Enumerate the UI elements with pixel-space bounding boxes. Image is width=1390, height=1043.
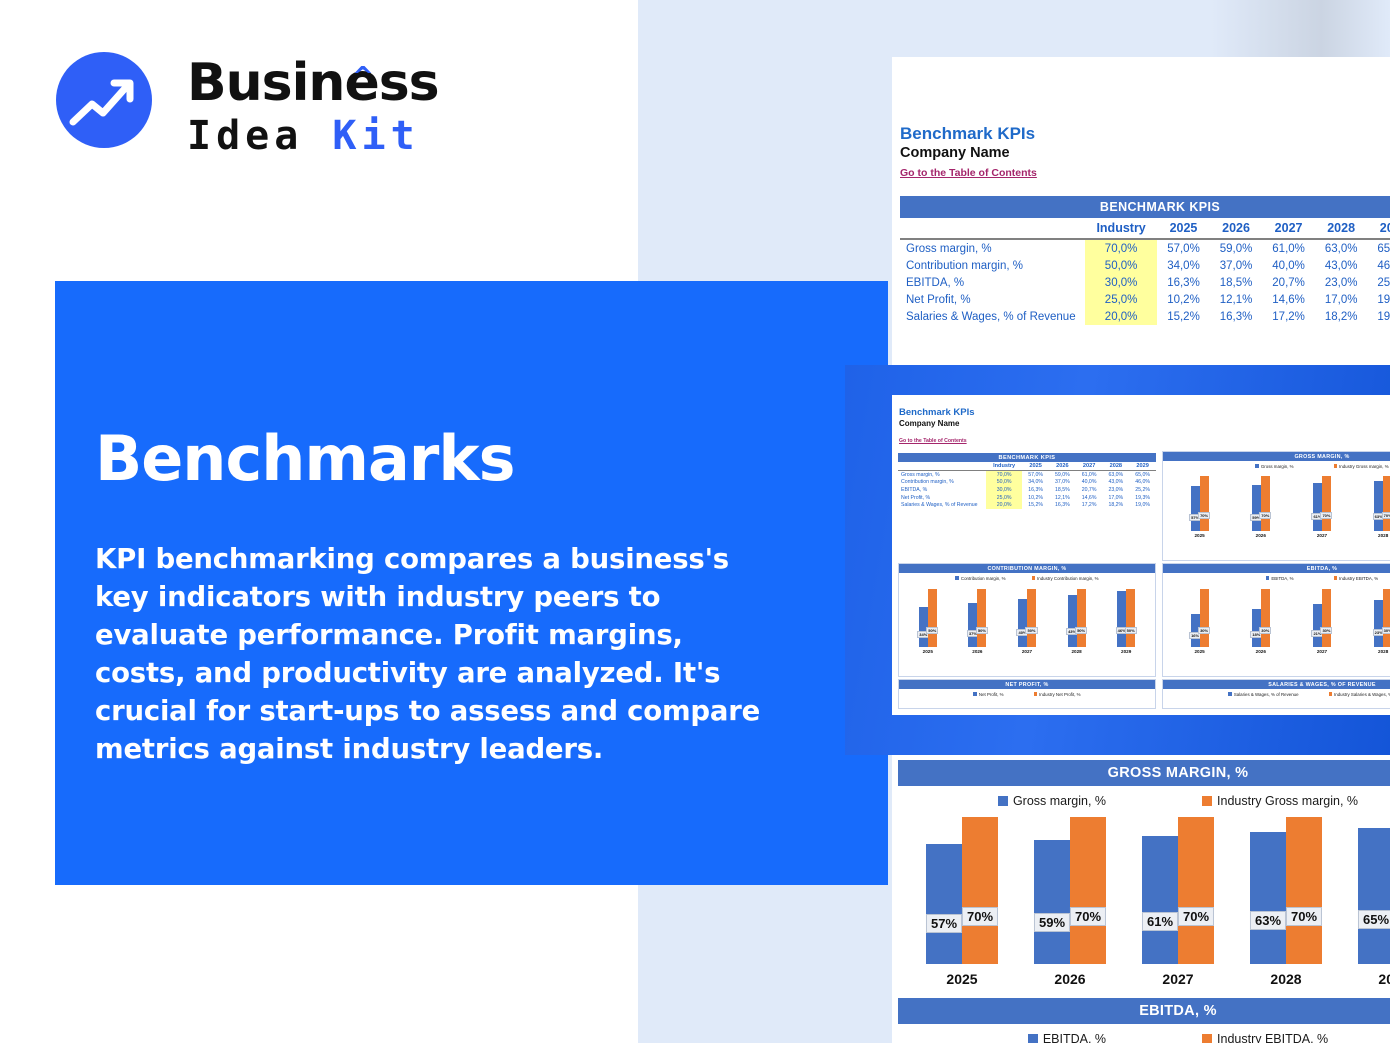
bar-company: 46% xyxy=(1117,591,1126,647)
legend-label: Net Profit, % xyxy=(979,692,1004,697)
legend-label: Industry Net Profit, % xyxy=(1039,692,1080,697)
bar-industry: 30% xyxy=(1261,589,1270,647)
bar-value-label: 70% xyxy=(962,907,998,926)
chart-title: GROSS MARGIN, % xyxy=(1163,452,1390,461)
bar-value-label: 57% xyxy=(926,914,962,933)
bar-group: 63%70%2028 xyxy=(1250,816,1322,987)
cell-industry: 70,0% xyxy=(986,471,1022,479)
col-header-2028: 2028 xyxy=(1102,462,1129,471)
row-label: Gross margin, % xyxy=(898,471,986,479)
bar-value-label: 70% xyxy=(1259,512,1271,519)
col-header-2025: 2025 xyxy=(1157,218,1210,239)
mini-chart-net-profit[interactable]: NET PROFIT, % Net Profit, % Industry Net… xyxy=(898,679,1156,709)
x-tick-label: 2029 xyxy=(1121,649,1131,654)
x-tick-label: 2026 xyxy=(1256,533,1266,538)
table-row: Contribution margin, % 50,0% 34,0% 37,0%… xyxy=(900,257,1390,274)
table-row: Salaries & Wages, % of Revenue 20,0% 15,… xyxy=(900,308,1390,325)
legend-swatch-icon xyxy=(1202,796,1212,806)
col-header-2029: 2029 xyxy=(1129,462,1156,471)
cell-2029: 65,0% xyxy=(1367,239,1390,257)
mini-chart-salaries-wages[interactable]: SALARIES & WAGES, % OF REVENUE Salaries … xyxy=(1162,679,1390,709)
bar-industry: 50% xyxy=(928,589,937,647)
cell-2028: 43,0% xyxy=(1102,479,1129,487)
chart-plot-area: 57%70%2025 59%70%2026 61%70%2027 63%70%2… xyxy=(898,812,1390,987)
cell-2025: 34,0% xyxy=(1022,479,1049,487)
col-header-2027: 2027 xyxy=(1076,462,1103,471)
cell-2025: 15,2% xyxy=(1022,501,1049,509)
col-header-blank xyxy=(898,462,986,471)
bar-industry: 30% xyxy=(1383,589,1390,647)
col-header-industry: Industry xyxy=(986,462,1022,471)
cell-2025: 57,0% xyxy=(1157,239,1210,257)
cell-2029: 65,0% xyxy=(1129,471,1156,479)
cell-2025: 16,3% xyxy=(1022,486,1049,494)
table-row: Gross margin, % 70,0% 57,0% 59,0% 61,0% … xyxy=(898,471,1156,479)
sheet-company-name: Company Name xyxy=(899,419,1390,429)
chart-legend: Salaries & Wages, % of Revenue Industry … xyxy=(1163,689,1390,698)
cell-2026: 16,3% xyxy=(1049,501,1076,509)
cell-2026: 18,5% xyxy=(1210,274,1263,291)
bar-industry: 50% xyxy=(1077,589,1086,647)
bar-group: 23%30%2028 xyxy=(1374,587,1390,654)
table-band-row: BENCHMARK KPIS xyxy=(900,196,1390,218)
bar-company: 40% xyxy=(1018,599,1027,647)
mini-chart-contribution-margin[interactable]: CONTRIBUTION MARGIN, % Contribution marg… xyxy=(898,563,1156,677)
col-header-2029: 2029 xyxy=(1367,218,1390,239)
x-tick-label: 2028 xyxy=(1270,971,1301,987)
bar-group: 61%70%2027 xyxy=(1313,475,1331,538)
col-header-industry: Industry xyxy=(1085,218,1157,239)
mini-kpi-table-wrapper: BENCHMARK KPIS Industry 2025 2026 2027 2… xyxy=(898,453,1156,509)
bar-value-label: 65% xyxy=(1358,910,1390,929)
bar-group: 43%50%2028 xyxy=(1068,587,1086,654)
chart-title: NET PROFIT, % xyxy=(899,680,1155,689)
legend-label: Gross margin, % xyxy=(1261,464,1294,469)
cell-2027: 14,6% xyxy=(1076,494,1103,502)
legend-swatch-icon xyxy=(1329,692,1333,696)
x-tick-label: 2025 xyxy=(1194,649,1204,654)
bar-industry: 70% xyxy=(1070,817,1106,964)
chart-title: CONTRIBUTION MARGIN, % xyxy=(899,564,1155,573)
cell-2028: 23,0% xyxy=(1315,274,1368,291)
bar-value-label: 50% xyxy=(976,627,988,634)
sheet-company-name: Company Name xyxy=(900,144,1390,163)
cell-industry: 30,0% xyxy=(986,486,1022,494)
table-of-contents-link[interactable]: Go to the Table of Contents xyxy=(899,437,967,445)
spreadsheet-card-gross-margin-chart[interactable]: GROSS MARGIN, % Gross margin, % Industry… xyxy=(892,755,1390,1043)
chart-legend: Contribution margin, % Industry Contribu… xyxy=(899,573,1155,582)
bar-group: 46%50%2029 xyxy=(1117,587,1135,654)
legend-item-industry: Industry Gross margin, % xyxy=(1202,794,1358,808)
bar-company: 61% xyxy=(1142,836,1178,964)
cell-2026: 12,1% xyxy=(1210,291,1263,308)
bar-value-label: 70% xyxy=(1178,907,1214,926)
cell-2027: 61,0% xyxy=(1076,471,1103,479)
col-header-2025: 2025 xyxy=(1022,462,1049,471)
bar-company: 21% xyxy=(1313,604,1322,647)
chart-title: EBITDA, % xyxy=(898,998,1390,1024)
legend-label: Industry Gross margin, % xyxy=(1217,794,1358,808)
cell-2025: 15,2% xyxy=(1157,308,1210,325)
bar-group: 40%50%2027 xyxy=(1018,587,1036,654)
bar-value-label: 50% xyxy=(1025,627,1037,634)
bar-industry: 30% xyxy=(1322,589,1331,647)
cell-industry: 50,0% xyxy=(986,479,1022,487)
bar-group: 16%30%2025 xyxy=(1191,587,1209,654)
cell-2027: 17,2% xyxy=(1262,308,1315,325)
cell-2027: 14,6% xyxy=(1262,291,1315,308)
mini-chart-gross-margin[interactable]: GROSS MARGIN, % Gross margin, % Industry… xyxy=(1162,451,1390,561)
legend-swatch-icon xyxy=(1334,576,1338,580)
bar-company: 59% xyxy=(1252,485,1261,531)
legend-item-company: Net Profit, % xyxy=(973,692,1003,697)
cell-2029: 19,0% xyxy=(1367,308,1390,325)
bar-value-label: 50% xyxy=(1075,627,1087,634)
hero-description: KPI benchmarking compares a business's k… xyxy=(95,540,775,768)
chart-plot-area: 57%70%2025 59%70%2026 61%70%2027 63%70%2… xyxy=(1163,470,1390,540)
cell-2026: 37,0% xyxy=(1210,257,1263,274)
legend-item-industry: Industry Gross margin, % xyxy=(1334,464,1389,469)
cell-2026: 16,3% xyxy=(1210,308,1263,325)
slide-root: Business ^ Idea Kit Benchmarks KPI bench… xyxy=(0,0,1390,1043)
col-header-2026: 2026 xyxy=(1049,462,1076,471)
legend-label: EBITDA, % xyxy=(1043,1032,1106,1043)
x-tick-label: 2029 xyxy=(1378,971,1390,987)
bar-company: 23% xyxy=(1374,600,1383,647)
bar-industry: 30% xyxy=(1200,589,1209,647)
legend-item-company: EBITDA, % xyxy=(1028,1032,1106,1043)
bar-value-label: 70% xyxy=(1198,512,1210,519)
chart-title: EBITDA, % xyxy=(1163,564,1390,573)
bar-industry: 70% xyxy=(1383,476,1390,531)
bar-group: 59%70%2026 xyxy=(1252,475,1270,538)
bar-group: 57%70%2025 xyxy=(926,816,998,987)
cell-2028: 63,0% xyxy=(1102,471,1129,479)
cell-2029: 25,2% xyxy=(1129,486,1156,494)
cell-2025: 10,2% xyxy=(1157,291,1210,308)
legend-item-company: Salaries & Wages, % of Revenue xyxy=(1228,692,1298,697)
cell-2029: 19,3% xyxy=(1129,494,1156,502)
chart-gross-margin[interactable]: GROSS MARGIN, % Gross margin, % Industry… xyxy=(898,760,1390,1002)
bar-company: 37% xyxy=(968,603,977,647)
row-label: Net Profit, % xyxy=(898,494,986,502)
legend-item-industry: Industry EBITDA, % xyxy=(1202,1032,1328,1043)
bar-company: 63% xyxy=(1374,481,1383,531)
cell-industry: 70,0% xyxy=(1085,239,1157,257)
x-tick-label: 2027 xyxy=(1022,649,1032,654)
bar-group: 57%70%2025 xyxy=(1191,475,1209,538)
bar-value-label: 61% xyxy=(1142,912,1178,931)
bar-industry: 70% xyxy=(962,817,998,964)
legend-item-company: Contribution margin, % xyxy=(955,576,1005,581)
brand-name-secondary: Idea xyxy=(187,113,332,159)
bar-industry: 70% xyxy=(1322,476,1331,531)
bar-value-label: 30% xyxy=(1198,627,1210,634)
bar-company: 61% xyxy=(1313,483,1322,531)
bar-industry: 70% xyxy=(1261,476,1270,531)
cell-2027: 40,0% xyxy=(1076,479,1103,487)
bar-company: 65% xyxy=(1358,828,1390,964)
cell-2029: 19,3% xyxy=(1367,291,1390,308)
cell-industry: 25,0% xyxy=(1085,291,1157,308)
spreadsheet-card-dashboard[interactable]: Benchmark KPIs Company Name Go to the Ta… xyxy=(892,395,1390,715)
cell-2027: 17,2% xyxy=(1076,501,1103,509)
table-row: EBITDA, % 30,0% 16,3% 18,5% 20,7% 23,0% … xyxy=(898,486,1156,494)
chart-legend: EBITDA, % Industry EBITDA, % xyxy=(898,1024,1390,1043)
col-header-2027: 2027 xyxy=(1262,218,1315,239)
bar-value-label: 59% xyxy=(1034,913,1070,932)
bar-value-label: 30% xyxy=(1259,627,1271,634)
cell-2027: 61,0% xyxy=(1262,239,1315,257)
legend-swatch-icon xyxy=(1202,1034,1212,1043)
sheet-header: Benchmark KPIs Company Name Go to the Ta… xyxy=(892,395,1390,447)
growth-arrow-icon xyxy=(56,52,152,148)
row-label: Salaries & Wages, % of Revenue xyxy=(900,308,1085,325)
legend-item-industry: Industry Salaries & Wages, % of Revenue xyxy=(1329,692,1390,697)
cell-2026: 59,0% xyxy=(1049,471,1076,479)
cell-2027: 40,0% xyxy=(1262,257,1315,274)
col-header-2026: 2026 xyxy=(1210,218,1263,239)
x-tick-label: 2026 xyxy=(1256,649,1266,654)
chart-plot-area: 34%50%2025 37%50%2026 40%50%2027 43%50%2… xyxy=(899,582,1155,656)
table-of-contents-link[interactable]: Go to the Table of Contents xyxy=(900,166,1037,180)
spreadsheet-card-kpi-table[interactable]: Benchmark KPIs Company Name Go to the Ta… xyxy=(892,57,1390,365)
cell-2029: 19,0% xyxy=(1129,501,1156,509)
legend-swatch-icon xyxy=(1028,1034,1038,1043)
cell-2028: 17,0% xyxy=(1102,494,1129,502)
legend-item-industry: Industry EBITDA, % xyxy=(1334,576,1379,581)
cell-2029: 46,0% xyxy=(1367,257,1390,274)
cell-industry: 30,0% xyxy=(1085,274,1157,291)
table-row: Net Profit, % 25,0% 10,2% 12,1% 14,6% 17… xyxy=(900,291,1390,308)
sheet-title: Benchmark KPIs xyxy=(899,407,1390,419)
legend-swatch-icon xyxy=(998,796,1008,806)
x-tick-label: 2025 xyxy=(923,649,933,654)
bar-group: 63%70%2028 xyxy=(1374,475,1390,538)
mini-chart-ebitda[interactable]: EBITDA, % EBITDA, % Industry EBITDA, % 1… xyxy=(1162,563,1390,677)
cell-2029: 25,2% xyxy=(1367,274,1390,291)
legend-label: Industry EBITDA, % xyxy=(1217,1032,1328,1043)
cell-2028: 63,0% xyxy=(1315,239,1368,257)
row-label: EBITDA, % xyxy=(898,486,986,494)
page-title: Benchmarks xyxy=(95,424,775,494)
cell-2029: 46,0% xyxy=(1129,479,1156,487)
cell-2026: 37,0% xyxy=(1049,479,1076,487)
bar-industry: 50% xyxy=(1027,589,1036,647)
bar-group: 34%50%2025 xyxy=(919,587,937,654)
legend-label: Industry EBITDA, % xyxy=(1339,576,1378,581)
mini-kpi-table: BENCHMARK KPIS Industry 2025 2026 2027 2… xyxy=(898,453,1156,509)
cell-2026: 59,0% xyxy=(1210,239,1263,257)
bar-group: 65%70%2029 xyxy=(1358,816,1390,987)
brand-logo: Business ^ Idea Kit xyxy=(56,52,456,162)
chart-legend: Gross margin, % Industry Gross margin, % xyxy=(898,786,1390,812)
bar-industry: 70% xyxy=(1286,817,1322,964)
cell-industry: 20,0% xyxy=(1085,308,1157,325)
table-row: Net Profit, % 25,0% 10,2% 12,1% 14,6% 17… xyxy=(898,494,1156,502)
legend-swatch-icon xyxy=(1034,692,1038,696)
legend-swatch-icon xyxy=(1228,692,1232,696)
table-header-row: Industry 2025 2026 2027 2028 2029 xyxy=(898,462,1156,471)
bar-value-label: 70% xyxy=(1286,907,1322,926)
legend-item-company: Gross margin, % xyxy=(998,794,1106,808)
kpi-table-wrapper: BENCHMARK KPIS Industry 2025 2026 2027 2… xyxy=(900,196,1390,325)
bar-group: 37%50%2026 xyxy=(968,587,986,654)
x-tick-label: 2027 xyxy=(1317,533,1327,538)
legend-item-company: Gross margin, % xyxy=(1255,464,1293,469)
kpi-table: BENCHMARK KPIS Industry 2025 2026 2027 2… xyxy=(900,196,1390,325)
chart-legend: EBITDA, % Industry EBITDA, % xyxy=(1163,573,1390,582)
col-header-2028: 2028 xyxy=(1315,218,1368,239)
legend-label: Contribution margin, % xyxy=(961,576,1006,581)
bar-company: 43% xyxy=(1068,595,1077,647)
x-tick-label: 2028 xyxy=(1378,533,1388,538)
table-row: Contribution margin, % 50,0% 34,0% 37,0%… xyxy=(898,479,1156,487)
bar-group: 59%70%2026 xyxy=(1034,816,1106,987)
cell-2025: 57,0% xyxy=(1022,471,1049,479)
legend-swatch-icon xyxy=(1266,576,1270,580)
bar-company: 57% xyxy=(926,844,962,964)
legend-swatch-icon xyxy=(1032,576,1036,580)
legend-label: Gross margin, % xyxy=(1013,794,1106,808)
bar-company: 57% xyxy=(1191,486,1200,531)
table-row: Salaries & Wages, % of Revenue 20,0% 15,… xyxy=(898,501,1156,509)
x-tick-label: 2027 xyxy=(1162,971,1193,987)
x-tick-label: 2027 xyxy=(1317,649,1327,654)
legend-label: Industry Contribution margin, % xyxy=(1037,576,1099,581)
cell-2025: 34,0% xyxy=(1157,257,1210,274)
bar-value-label: 70% xyxy=(1070,907,1106,926)
bar-value-label: 70% xyxy=(1382,512,1390,519)
bar-industry: 70% xyxy=(1200,476,1209,531)
x-tick-label: 2028 xyxy=(1071,649,1081,654)
table-row: Gross margin, % 70,0% 57,0% 59,0% 61,0% … xyxy=(900,239,1390,257)
cell-industry: 50,0% xyxy=(1085,257,1157,274)
x-tick-label: 2026 xyxy=(972,649,982,654)
bar-group: 61%70%2027 xyxy=(1142,816,1214,987)
legend-item-industry: Industry Contribution margin, % xyxy=(1032,576,1099,581)
row-label: Contribution margin, % xyxy=(900,257,1085,274)
bar-value-label: 30% xyxy=(1382,627,1390,634)
hero-content: Benchmarks KPI benchmarking compares a b… xyxy=(95,424,775,768)
bar-group: 21%30%2027 xyxy=(1313,587,1331,654)
chart-title: GROSS MARGIN, % xyxy=(898,760,1390,786)
chart-plot-area: 16%30%2025 18%30%2026 21%30%2027 23%30%2… xyxy=(1163,582,1390,656)
cell-2025: 16,3% xyxy=(1157,274,1210,291)
brand-hat-icon: ^ xyxy=(352,48,373,106)
x-tick-label: 2026 xyxy=(1054,971,1085,987)
cell-2028: 23,0% xyxy=(1102,486,1129,494)
row-label: Gross margin, % xyxy=(900,239,1085,257)
bar-industry: 70% xyxy=(1178,817,1214,964)
chart-ebitda[interactable]: EBITDA, % EBITDA, % Industry EBITDA, % xyxy=(898,998,1390,1043)
bar-value-label: 30% xyxy=(1320,627,1332,634)
table-row: EBITDA, % 30,0% 16,3% 18,5% 20,7% 23,0% … xyxy=(900,274,1390,291)
legend-item-company: EBITDA, % xyxy=(1266,576,1294,581)
bar-value-label: 63% xyxy=(1250,911,1286,930)
legend-swatch-icon xyxy=(1255,464,1259,468)
x-tick-label: 2025 xyxy=(946,971,977,987)
cell-2028: 18,2% xyxy=(1102,501,1129,509)
cell-2028: 43,0% xyxy=(1315,257,1368,274)
row-label: EBITDA, % xyxy=(900,274,1085,291)
bar-value-label: 50% xyxy=(1125,627,1137,634)
legend-label: Industry Salaries & Wages, % of Revenue xyxy=(1334,692,1390,697)
bar-industry: 50% xyxy=(1126,589,1135,647)
cell-2027: 20,7% xyxy=(1262,274,1315,291)
table-header-row: Industry 2025 2026 2027 2028 2029 xyxy=(900,218,1390,239)
legend-label: EBITDA, % xyxy=(1271,576,1293,581)
table-band-label: BENCHMARK KPIS xyxy=(900,196,1390,218)
legend-item-industry: Industry Net Profit, % xyxy=(1034,692,1081,697)
row-label: Contribution margin, % xyxy=(898,479,986,487)
bar-value-label: 50% xyxy=(926,627,938,634)
cell-industry: 25,0% xyxy=(986,494,1022,502)
cell-2028: 18,2% xyxy=(1315,308,1368,325)
legend-label: Salaries & Wages, % of Revenue xyxy=(1234,692,1299,697)
legend-swatch-icon xyxy=(973,692,977,696)
chart-legend: Gross margin, % Industry Gross margin, % xyxy=(1163,461,1390,470)
x-tick-label: 2025 xyxy=(1194,533,1204,538)
bar-company: 59% xyxy=(1034,840,1070,964)
legend-swatch-icon xyxy=(955,576,959,580)
sheet-title: Benchmark KPIs xyxy=(900,123,1390,144)
cell-2026: 18,5% xyxy=(1049,486,1076,494)
brand-name-primary: Business xyxy=(187,53,439,113)
chart-legend: Net Profit, % Industry Net Profit, % xyxy=(899,689,1155,698)
cell-industry: 20,0% xyxy=(986,501,1022,509)
cell-2025: 10,2% xyxy=(1022,494,1049,502)
cell-2028: 17,0% xyxy=(1315,291,1368,308)
brand-name-accent: Kit xyxy=(332,113,419,159)
bar-value-label: 70% xyxy=(1320,512,1332,519)
legend-swatch-icon xyxy=(1334,464,1338,468)
cell-2027: 20,7% xyxy=(1076,486,1103,494)
chart-title: SALARIES & WAGES, % OF REVENUE xyxy=(1163,680,1390,689)
cell-2026: 12,1% xyxy=(1049,494,1076,502)
bar-group: 18%30%2026 xyxy=(1252,587,1270,654)
row-label: Net Profit, % xyxy=(900,291,1085,308)
sheet-header: Benchmark KPIs Company Name Go to the Ta… xyxy=(892,57,1390,181)
bar-company: 63% xyxy=(1250,832,1286,964)
bar-industry: 50% xyxy=(977,589,986,647)
row-label: Salaries & Wages, % of Revenue xyxy=(898,501,986,509)
col-header-blank xyxy=(900,218,1085,239)
table-band-label: BENCHMARK KPIS xyxy=(898,453,1156,462)
legend-label: Industry Gross margin, % xyxy=(1339,464,1389,469)
x-tick-label: 2028 xyxy=(1378,649,1388,654)
